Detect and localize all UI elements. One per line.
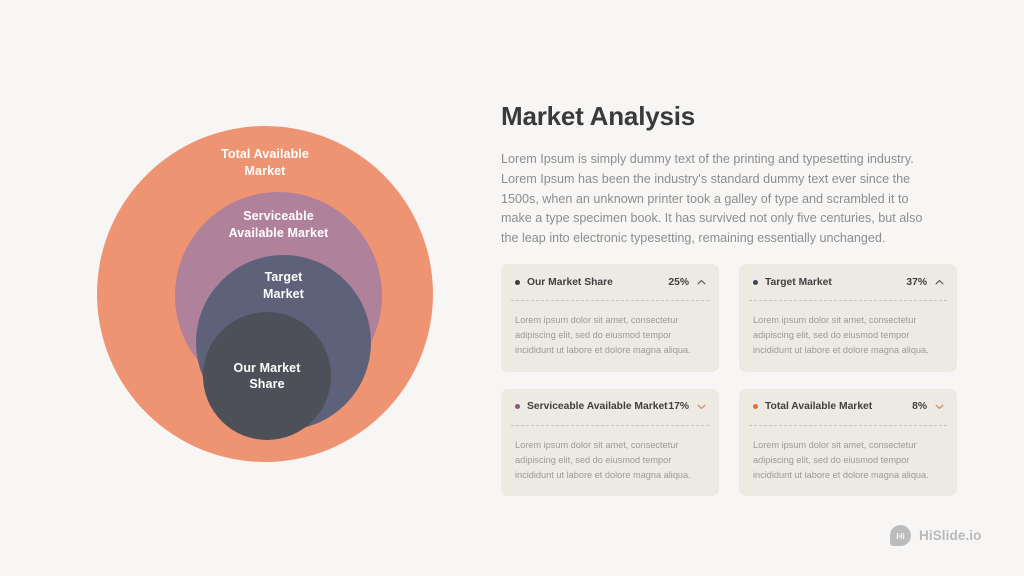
chevron-down-icon[interactable] <box>697 402 706 411</box>
bullet-icon <box>753 404 758 409</box>
circle-label-line2: Market <box>221 163 309 180</box>
bullet-icon <box>515 404 520 409</box>
card-target-market[interactable]: Target Market 37% Lorem ipsum dolor sit … <box>739 264 957 372</box>
circle-label-our-market-share: Our Market Share <box>234 360 301 393</box>
page-title: Market Analysis <box>501 101 695 132</box>
circle-label-target-market: Target Market <box>263 269 304 302</box>
card-title: Our Market Share <box>527 277 613 288</box>
chevron-down-icon[interactable] <box>935 402 944 411</box>
circle-label-line2: Share <box>234 376 301 393</box>
bullet-icon <box>515 280 520 285</box>
circle-label-total-available-market: Total Available Market <box>221 146 309 179</box>
logo-text: HiSlide.io <box>919 528 982 543</box>
card-percent: 37% <box>906 277 935 288</box>
card-body: Lorem ipsum dolor sit amet, consectetur … <box>501 301 719 372</box>
market-segment-cards: Our Market Share 25% Lorem ipsum dolor s… <box>501 264 957 496</box>
circle-label-line1: Our Market <box>234 360 301 377</box>
card-our-market-share[interactable]: Our Market Share 25% Lorem ipsum dolor s… <box>501 264 719 372</box>
card-body: Lorem ipsum dolor sit amet, consectetur … <box>501 426 719 497</box>
card-percent: 17% <box>668 401 697 412</box>
logo-badge-icon: Hi <box>890 525 911 546</box>
circle-label-line1: Target <box>263 269 304 286</box>
circle-label-serviceable-available-market: Serviceable Available Market <box>229 208 329 241</box>
card-title: Total Available Market <box>765 401 872 412</box>
circle-label-line2: Available Market <box>229 225 329 242</box>
card-title: Serviceable Available Market <box>527 401 668 412</box>
card-percent: 25% <box>668 277 697 288</box>
card-header[interactable]: Our Market Share 25% <box>501 264 719 300</box>
intro-paragraph: Lorem Ipsum is simply dummy text of the … <box>501 150 941 249</box>
circle-our-market-share[interactable]: Our Market Share <box>203 312 331 440</box>
card-header[interactable]: Serviceable Available Market 17% <box>501 389 719 425</box>
card-title: Target Market <box>765 277 832 288</box>
card-percent: 8% <box>912 401 935 412</box>
circle-label-line1: Serviceable <box>229 208 329 225</box>
hislide-logo[interactable]: Hi HiSlide.io <box>890 525 982 546</box>
market-circles-diagram: Total Available Market Serviceable Avail… <box>0 0 480 576</box>
card-serviceable-available-market[interactable]: Serviceable Available Market 17% Lorem i… <box>501 389 719 497</box>
bullet-icon <box>753 280 758 285</box>
card-header[interactable]: Total Available Market 8% <box>739 389 957 425</box>
card-body: Lorem ipsum dolor sit amet, consectetur … <box>739 301 957 372</box>
chevron-up-icon[interactable] <box>697 278 706 287</box>
content-panel: Market Analysis Lorem Ipsum is simply du… <box>501 0 971 576</box>
chevron-up-icon[interactable] <box>935 278 944 287</box>
circle-label-line1: Total Available <box>221 146 309 163</box>
card-total-available-market[interactable]: Total Available Market 8% Lorem ipsum do… <box>739 389 957 497</box>
circle-label-line2: Market <box>263 286 304 303</box>
card-header[interactable]: Target Market 37% <box>739 264 957 300</box>
card-body: Lorem ipsum dolor sit amet, consectetur … <box>739 426 957 497</box>
